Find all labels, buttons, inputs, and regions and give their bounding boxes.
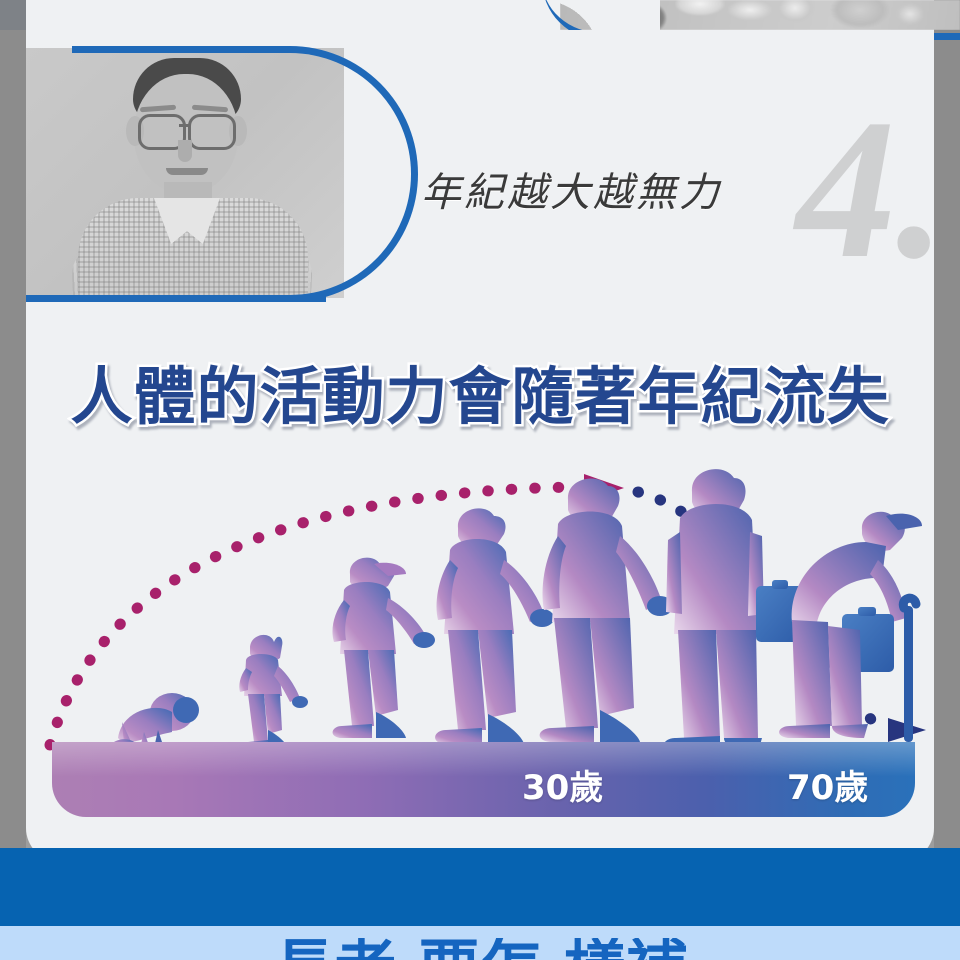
portrait-blue-underline [26, 295, 326, 302]
poster-canvas: 年紀越大越無力 4. 人體的活動力會隨著年紀流失 [0, 0, 960, 960]
section-number: 4. [796, 90, 934, 290]
kicker-text: 年紀越大越無力 [421, 160, 781, 218]
activity-curve [26, 430, 934, 790]
frame-left-bar [0, 0, 26, 848]
age-label-70: 70歲 [787, 760, 868, 809]
figure-young-adult [540, 478, 673, 742]
page-title: 人體的活動力會隨著年紀流失 [26, 346, 934, 436]
walking-cane [904, 606, 913, 742]
figure-elderly-with-cane [779, 512, 922, 742]
age-bar-sheen [52, 742, 915, 817]
content-card: 年紀越大越無力 4. 人體的活動力會隨著年紀流失 [26, 30, 934, 862]
aging-illustration: 30歲 70歲 [26, 430, 934, 830]
age-label-30: 30歲 [522, 760, 603, 809]
bottom-blue-band [0, 848, 960, 926]
frame-top-left-nub [0, 0, 26, 30]
figure-child-with-cap [332, 558, 435, 738]
portrait-blue-curve [26, 46, 418, 302]
figure-crawling-baby [114, 693, 199, 748]
figure-teenager [435, 508, 554, 744]
figure-toddler [239, 635, 308, 750]
age-timeline-bar: 30歲 70歲 [52, 742, 915, 817]
frame-right-bar [934, 0, 960, 848]
next-slide-teaser: 長者 要怎 樣補 [0, 938, 960, 960]
